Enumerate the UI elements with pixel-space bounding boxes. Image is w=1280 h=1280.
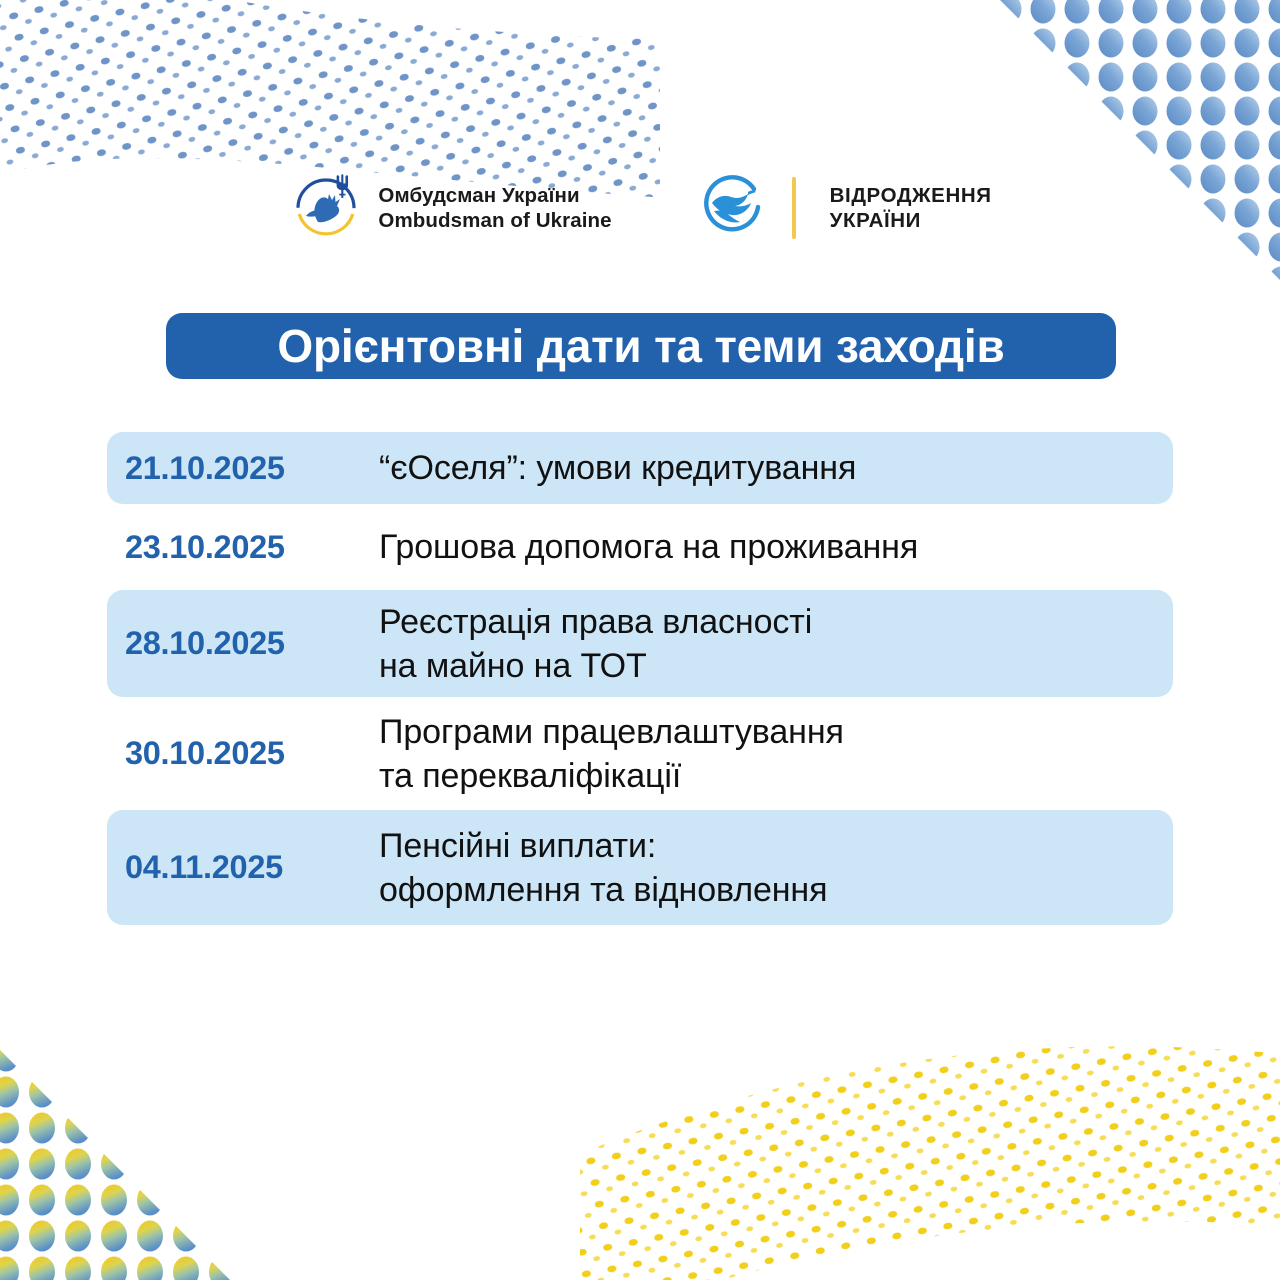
page-title-banner: Орієнтовні дати та теми заходів — [166, 313, 1116, 379]
ombudsman-logo-text: Омбудсман України Ombudsman of Ukraine — [378, 183, 611, 233]
ombudsman-name-uk: Омбудсман України — [378, 183, 611, 208]
poster-canvas: Омбудсман України Ombudsman of Ukraine В… — [0, 0, 1280, 1280]
logo-divider — [792, 177, 796, 239]
event-topic: “єОселя”: умови кредитування — [379, 446, 1155, 490]
event-topic-line: Грошова допомога на проживання — [379, 525, 1155, 569]
revival-name-line1: ВІДРОДЖЕННЯ — [830, 183, 992, 208]
event-date: 21.10.2025 — [125, 450, 379, 487]
event-topic: Реєстрація права власності на майно на Т… — [379, 600, 1155, 688]
revival-name-line2: УКРАЇНИ — [830, 208, 992, 233]
event-topic-line: на майно на ТОТ — [379, 644, 1155, 688]
event-date: 30.10.2025 — [125, 735, 379, 772]
logo-bar: Омбудсман України Ombudsman of Ukraine В… — [0, 158, 1280, 258]
schedule-row: 23.10.2025 Грошова допомога на проживанн… — [107, 504, 1173, 590]
event-topic: Пенсійні виплати: оформлення та відновле… — [379, 824, 1155, 912]
decoration-top-right-blue-dot-grid — [890, 0, 1280, 310]
event-topic-line: та перекваліфікації — [379, 754, 1155, 798]
decoration-bottom-left-yellow-blue-dot-grid — [0, 930, 320, 1280]
ombudsman-logo: Омбудсман України Ombudsman of Ukraine — [288, 170, 611, 246]
schedule-row: 30.10.2025 Програми працевлаштування та … — [107, 697, 1173, 810]
event-date: 04.11.2025 — [125, 849, 379, 886]
page-title: Орієнтовні дати та теми заходів — [277, 323, 1004, 369]
event-topic-line: “єОселя”: умови кредитування — [379, 446, 1155, 490]
ombudsman-name-en: Ombudsman of Ukraine — [378, 208, 611, 233]
decoration-bottom-right-yellow-dotted-wave — [580, 1000, 1280, 1280]
event-topic: Грошова допомога на проживання — [379, 525, 1155, 569]
event-topic-line: оформлення та відновлення — [379, 868, 1155, 912]
schedule-row: 28.10.2025 Реєстрація права власності на… — [107, 590, 1173, 697]
event-date: 28.10.2025 — [125, 625, 379, 662]
event-topic-line: Програми працевлаштування — [379, 710, 1155, 754]
event-date: 23.10.2025 — [125, 529, 379, 566]
event-topic: Програми працевлаштування та перекваліфі… — [379, 710, 1155, 798]
event-topic-line: Реєстрація права власності — [379, 600, 1155, 644]
schedule-row: 04.11.2025 Пенсійні виплати: оформлення … — [107, 810, 1173, 925]
revival-logo-text: ВІДРОДЖЕННЯ УКРАЇНИ — [810, 183, 992, 233]
ombudsman-dove-emblem-icon — [288, 170, 364, 246]
schedule-list: 21.10.2025 “єОселя”: умови кредитування … — [107, 432, 1173, 925]
revival-phoenix-emblem-icon — [698, 173, 768, 243]
revival-logo: ВІДРОДЖЕННЯ УКРАЇНИ — [698, 173, 992, 243]
schedule-row: 21.10.2025 “єОселя”: умови кредитування — [107, 432, 1173, 504]
event-topic-line: Пенсійні виплати: — [379, 824, 1155, 868]
